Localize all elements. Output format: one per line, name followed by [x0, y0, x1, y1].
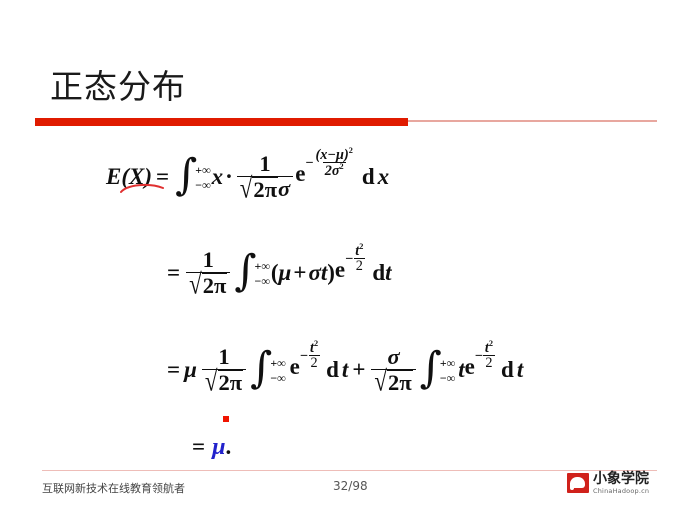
eq2-exp-den: 2 — [354, 258, 365, 274]
eq2-paren-open: ( — [271, 260, 279, 286]
eq3-frac1-numerator: 1 — [215, 345, 232, 369]
eq2-fraction: 1 √2π — [186, 248, 230, 297]
eq4-result-value: μ — [209, 433, 225, 461]
integral-sign: ∫ — [250, 352, 272, 385]
sqrt-icon: √2π — [374, 370, 412, 395]
eq3-differential-1: d — [320, 357, 339, 383]
equation-4: = μ . — [188, 432, 231, 461]
eq4-period: . — [226, 434, 232, 460]
eq1-dot: · — [223, 164, 235, 190]
eq3-fraction-2: σ √2π — [371, 345, 415, 394]
sqrt-icon: √2π — [240, 177, 278, 202]
eq3-int2-limit-top: +∞ — [440, 356, 455, 371]
eq1-exp-base: e — [295, 161, 305, 187]
eq3-exp2-base: e — [465, 354, 475, 380]
eq2-integral: ∫ +∞ −∞ — [234, 256, 270, 289]
eq3-integral-1: ∫ +∞ −∞ — [250, 353, 286, 386]
eq3-exponent-2: − t2 2 — [475, 340, 495, 371]
eq1-exp-den: 2σ2 — [323, 162, 346, 178]
eq3-exp1-num: t2 — [308, 340, 320, 355]
eq3-frac1-denominator: √2π — [202, 369, 246, 395]
eq3-integral-2: ∫ +∞ −∞ — [420, 353, 456, 386]
eq2-differential: d — [365, 260, 385, 286]
sqrt-icon: √2π — [189, 273, 227, 298]
eq2-paren-close: ) — [327, 260, 335, 286]
eq2-exp-sign: − — [345, 251, 353, 267]
eq2-frac-numerator: 1 — [200, 248, 217, 272]
eq1-exp-sign: − — [305, 155, 313, 171]
brand-logo: 小象学院 ChinaHadoop.cn — [567, 472, 649, 495]
eq2-frac-denominator: √2π — [186, 272, 230, 298]
eq3-exp1-sign: − — [300, 348, 308, 364]
eq2-differential-var: t — [385, 260, 391, 286]
integral-sign: ∫ — [175, 159, 197, 192]
eq3-lead-mu: μ — [184, 357, 200, 383]
slide-canvas: 正态分布 E(X) = ∫ +∞ −∞ x · 1 √2πσ — [0, 0, 685, 518]
eq1-exponential: e − (x−μ)2 2σ2 — [295, 161, 355, 193]
eq1-integral: ∫ +∞ −∞ — [175, 160, 211, 193]
logo-name-cn: 小象学院 — [593, 472, 649, 486]
eq3-exp1-den: 2 — [309, 355, 320, 371]
eq2-limit-bottom: −∞ — [255, 274, 270, 289]
eq1-differential-var: x — [375, 164, 390, 190]
eq2-exp-base: e — [335, 257, 345, 283]
eq1-exp-num: (x−μ)2 — [314, 147, 355, 162]
eq2-sigma: σ — [308, 260, 320, 286]
eq3-fraction-1: 1 √2π — [202, 345, 246, 394]
sqrt-icon: √2π — [205, 370, 243, 395]
eq3-differential-var-2: t — [514, 357, 523, 383]
eq3-equals: = — [163, 357, 184, 383]
eq4-equals: = — [188, 434, 209, 460]
eq2-limit-top: +∞ — [255, 259, 270, 274]
eq1-frac-numerator: 1 — [256, 152, 273, 176]
eq2-exponential: e − t2 2 — [335, 257, 365, 288]
eq1-integrand-var: x — [212, 164, 224, 190]
logo-name-en: ChinaHadoop.cn — [593, 488, 649, 495]
eq2-plus: + — [291, 260, 308, 286]
integral-sign: ∫ — [420, 352, 442, 385]
eq2-exponent: − t2 2 — [345, 243, 365, 274]
eq1-limit-bottom: −∞ — [195, 178, 210, 193]
eq3-frac2-denominator: √2π — [371, 369, 415, 395]
annotation-red-underline — [120, 181, 164, 193]
eq3-plus: + — [348, 357, 369, 383]
eq1-limit-top: +∞ — [195, 163, 210, 178]
eq3-exponential-1: e − t2 2 — [287, 354, 320, 385]
eq3-exp1-base: e — [290, 354, 300, 380]
page-title: 正态分布 — [50, 66, 186, 108]
eq3-int1-limit-top: +∞ — [270, 356, 285, 371]
integral-sign: ∫ — [234, 255, 256, 288]
eq3-int1-limit-bottom: −∞ — [270, 371, 285, 386]
equation-3: = μ 1 √2π ∫ +∞ −∞ e − t2 2 — [163, 345, 523, 394]
eq3-differential-var-1: t — [339, 357, 348, 383]
eq1-den-sigma: σ — [278, 176, 290, 201]
equation-2: = 1 √2π ∫ +∞ −∞ ( μ + σ t ) e — [163, 248, 392, 297]
eq1-frac-denominator: √2πσ — [237, 176, 293, 202]
eq3-exp2-den: 2 — [483, 355, 494, 371]
footer-separator — [42, 470, 657, 471]
eq1-exponent: − (x−μ)2 2σ2 — [305, 147, 354, 179]
annotation-red-square-marker — [223, 416, 229, 422]
eq3-differential-2: d — [495, 357, 514, 383]
eq1-fraction: 1 √2πσ — [237, 152, 293, 201]
eq2-mu: μ — [279, 260, 292, 286]
page-number: 32/98 — [333, 479, 368, 493]
eq3-exponent-1: − t2 2 — [300, 340, 320, 371]
footer-tagline: 互联网新技术在线教育领航者 — [42, 480, 185, 496]
eq2-equals: = — [163, 260, 184, 286]
eq3-int2-limit-bottom: −∞ — [440, 371, 455, 386]
title-accent-bar — [35, 118, 408, 126]
eq3-t: t — [456, 357, 464, 383]
title-accent-line — [408, 120, 657, 122]
eq3-exponential-2: e − t2 2 — [465, 354, 495, 385]
elephant-icon — [567, 473, 589, 493]
eq2-exp-num: t2 — [353, 243, 365, 258]
eq1-differential: d — [355, 164, 375, 190]
eq3-exp2-num: t2 — [483, 340, 495, 355]
eq3-exp2-sign: − — [475, 348, 483, 364]
